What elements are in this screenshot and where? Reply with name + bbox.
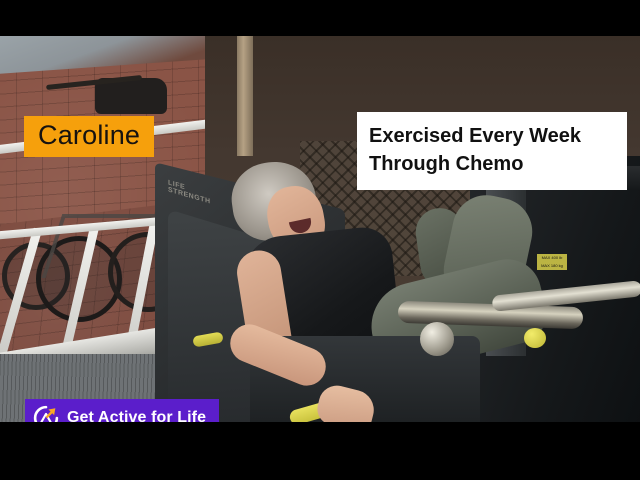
machine-adjust-knob xyxy=(524,328,546,348)
brand-badge: Get Active for Life xyxy=(25,399,219,422)
video-image: LIFE STRENGTH MAX 400 lb MAX 180 kg TE C… xyxy=(0,36,640,422)
title-line-1: Exercised Every Week xyxy=(369,122,613,150)
title-line-2: Through Chemo xyxy=(369,150,613,178)
machine-chrome-knob xyxy=(420,322,454,356)
video-frame: LIFE STRENGTH MAX 400 lb MAX 180 kg TE C… xyxy=(0,0,640,480)
letterbox-bottom xyxy=(0,422,640,480)
letterbox-top xyxy=(0,0,640,36)
window-post xyxy=(237,36,253,156)
circle-arrow-logo-icon xyxy=(33,405,59,423)
name-badge: Caroline xyxy=(24,116,154,157)
machine-warning-label: MAX 400 lb MAX 180 kg xyxy=(537,254,567,270)
name-badge-label: Caroline xyxy=(38,120,140,150)
title-card: Exercised Every Week Through Chemo xyxy=(357,112,627,190)
brand-badge-label: Get Active for Life xyxy=(67,409,206,423)
